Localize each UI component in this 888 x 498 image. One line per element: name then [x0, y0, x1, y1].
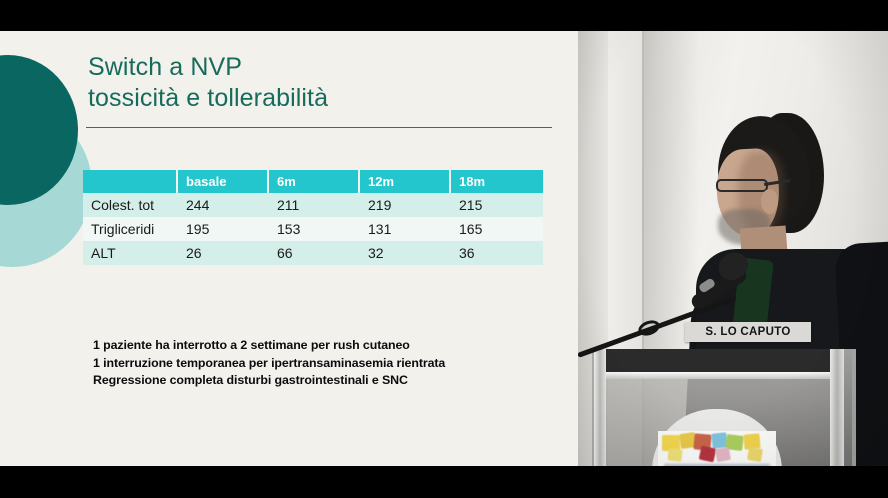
row-value: 32	[360, 241, 451, 265]
table-row: ALT 26 66 32 36	[83, 241, 543, 265]
row-value: 26	[178, 241, 269, 265]
conference-logo-poster	[658, 431, 776, 466]
podium-top-surface	[606, 349, 834, 373]
speaker-nameplate: S. LO CAPUTO	[685, 322, 811, 342]
title-divider-rule	[86, 127, 552, 128]
table-header-6m: 6m	[269, 170, 360, 193]
row-value: 244	[178, 193, 269, 217]
note-line-2: 1 interruzione temporanea per ipertransa…	[93, 355, 553, 373]
row-value: 131	[360, 217, 451, 241]
video-player-stage: Switch a NVP tossicità e tollerabilità b…	[0, 0, 888, 498]
table-header-basale: basale	[178, 170, 269, 193]
letterbox-bar-top	[0, 0, 888, 31]
note-line-3: Regressione completa disturbi gastrointe…	[93, 372, 553, 390]
table-header-12m: 12m	[360, 170, 451, 193]
speaker-video-panel: S. LO CAPUTO	[578, 31, 888, 466]
row-value: 211	[269, 193, 360, 217]
table-header-corner	[83, 170, 178, 193]
row-value: 153	[269, 217, 360, 241]
lab-values-table: basale 6m 12m 18m Colest. tot 244 211 21…	[83, 170, 543, 265]
table-row: Trigliceridi 195 153 131 165	[83, 217, 543, 241]
table-header-row: basale 6m 12m 18m	[83, 170, 543, 193]
row-label: Trigliceridi	[83, 217, 178, 241]
row-label: ALT	[83, 241, 178, 265]
row-value: 165	[451, 217, 543, 241]
slide-title-line-1: Switch a NVP	[88, 52, 558, 83]
speaker-glasses	[716, 179, 768, 192]
row-value: 215	[451, 193, 543, 217]
letterbox-bar-bottom	[0, 466, 888, 498]
slide-title: Switch a NVP tossicità e tollerabilità	[88, 52, 558, 114]
row-value: 219	[360, 193, 451, 217]
note-line-1: 1 paziente ha interrotto a 2 settimane p…	[93, 337, 553, 355]
slide-notes: 1 paziente ha interrotto a 2 settimane p…	[93, 337, 553, 390]
podium-post-right	[830, 349, 844, 466]
table-header-18m: 18m	[451, 170, 543, 193]
podium-rail	[606, 372, 834, 379]
row-label: Colest. tot	[83, 193, 178, 217]
podium-post-left	[594, 349, 606, 466]
row-value: 195	[178, 217, 269, 241]
presentation-slide: Switch a NVP tossicità e tollerabilità b…	[0, 31, 578, 466]
row-value: 66	[269, 241, 360, 265]
table-row: Colest. tot 244 211 219 215	[83, 193, 543, 217]
row-value: 36	[451, 241, 543, 265]
speaker-ear	[761, 189, 778, 214]
slide-title-line-2: tossicità e tollerabilità	[88, 83, 558, 114]
